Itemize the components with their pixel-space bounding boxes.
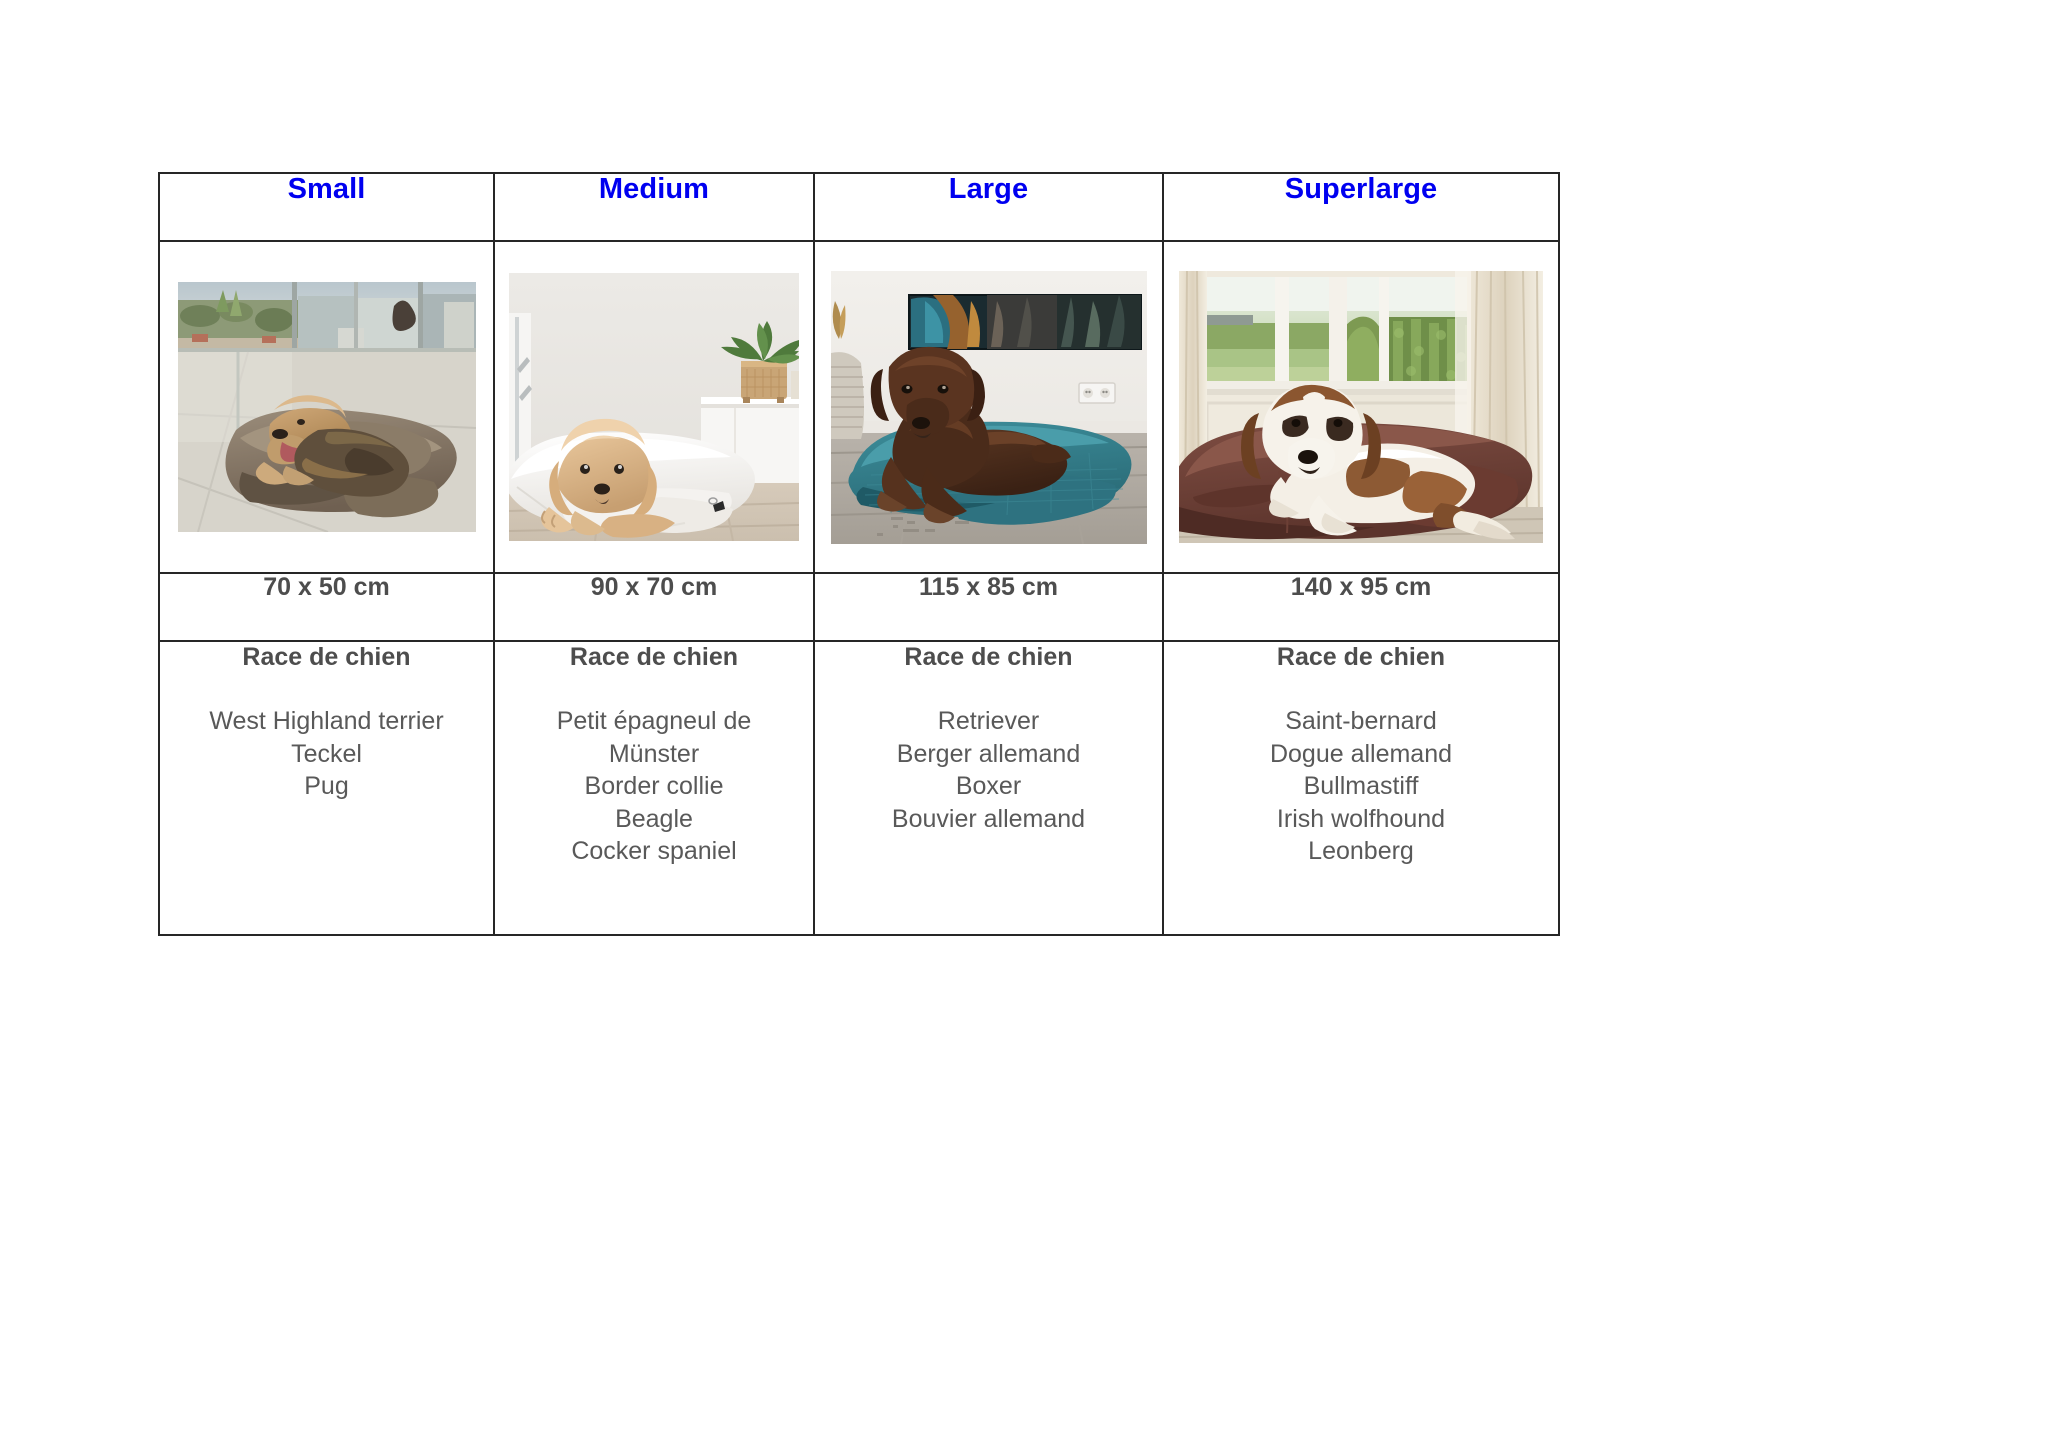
dimension-cell-superlarge: 140 x 95 cm bbox=[1163, 573, 1559, 641]
photo-large-dog-bed bbox=[831, 271, 1147, 544]
column-header-label: Small bbox=[160, 174, 493, 204]
breed-section-title: Race de chien bbox=[160, 642, 493, 672]
list-item: Retriever bbox=[815, 705, 1162, 738]
photo-small-dog-bed bbox=[178, 282, 476, 532]
column-header-label: Superlarge bbox=[1164, 174, 1558, 204]
table-row-photos bbox=[159, 241, 1559, 573]
list-item: Bouvier allemand bbox=[815, 803, 1162, 836]
list-item: Boxer bbox=[815, 770, 1162, 803]
breed-list: Saint-bernard Dogue allemand Bullmastiff… bbox=[1164, 705, 1558, 868]
header-cell-large: Large bbox=[814, 173, 1163, 241]
photo-cell-large bbox=[814, 241, 1163, 573]
list-item: Leonberg bbox=[1164, 835, 1558, 868]
list-item: Münster bbox=[495, 738, 813, 771]
dimension-label: 70 x 50 cm bbox=[160, 574, 493, 602]
breed-section-title: Race de chien bbox=[815, 642, 1162, 672]
breed-cell-large: Race de chien Retriever Berger allemand … bbox=[814, 641, 1163, 935]
list-item: Berger allemand bbox=[815, 738, 1162, 771]
table-row-breeds: Race de chien West Highland terrier Teck… bbox=[159, 641, 1559, 935]
dimension-cell-small: 70 x 50 cm bbox=[159, 573, 494, 641]
breed-cell-superlarge: Race de chien Saint-bernard Dogue allema… bbox=[1163, 641, 1559, 935]
dimension-cell-large: 115 x 85 cm bbox=[814, 573, 1163, 641]
breed-list: West Highland terrier Teckel Pug bbox=[160, 705, 493, 803]
breed-cell-medium: Race de chien Petit épagneul de Münster … bbox=[494, 641, 814, 935]
photo-medium-dog-bed bbox=[509, 273, 799, 541]
list-item: Bullmastiff bbox=[1164, 770, 1558, 803]
photo-superlarge-dog-bed bbox=[1179, 271, 1543, 543]
list-item: Border collie bbox=[495, 770, 813, 803]
table-row-headers: Small Medium Large Superlarge bbox=[159, 173, 1559, 241]
header-cell-superlarge: Superlarge bbox=[1163, 173, 1559, 241]
list-item: Petit épagneul de bbox=[495, 705, 813, 738]
list-item: Saint-bernard bbox=[1164, 705, 1558, 738]
breed-list: Petit épagneul de Münster Border collie … bbox=[495, 705, 813, 868]
column-header-label: Large bbox=[815, 174, 1162, 204]
breed-list: Retriever Berger allemand Boxer Bouvier … bbox=[815, 705, 1162, 835]
dog-bed-size-table: Small Medium Large Superlarge bbox=[158, 172, 1560, 936]
list-item: Cocker spaniel bbox=[495, 835, 813, 868]
dimension-label: 90 x 70 cm bbox=[495, 574, 813, 602]
photo-cell-medium bbox=[494, 241, 814, 573]
list-item: Beagle bbox=[495, 803, 813, 836]
header-cell-small: Small bbox=[159, 173, 494, 241]
photo-cell-small bbox=[159, 241, 494, 573]
list-item: Teckel bbox=[160, 738, 493, 771]
list-item: West Highland terrier bbox=[160, 705, 493, 738]
column-header-label: Medium bbox=[495, 174, 813, 204]
header-cell-medium: Medium bbox=[494, 173, 814, 241]
list-item: Irish wolfhound bbox=[1164, 803, 1558, 836]
breed-section-title: Race de chien bbox=[1164, 642, 1558, 672]
breed-cell-small: Race de chien West Highland terrier Teck… bbox=[159, 641, 494, 935]
dimension-label: 140 x 95 cm bbox=[1164, 574, 1558, 602]
table-row-dimensions: 70 x 50 cm 90 x 70 cm 115 x 85 cm 140 x … bbox=[159, 573, 1559, 641]
breed-section-title: Race de chien bbox=[495, 642, 813, 672]
list-item: Dogue allemand bbox=[1164, 738, 1558, 771]
list-item: Pug bbox=[160, 770, 493, 803]
photo-cell-superlarge bbox=[1163, 241, 1559, 573]
dimension-label: 115 x 85 cm bbox=[815, 574, 1162, 602]
document-page: Small Medium Large Superlarge bbox=[0, 0, 2048, 1448]
dimension-cell-medium: 90 x 70 cm bbox=[494, 573, 814, 641]
